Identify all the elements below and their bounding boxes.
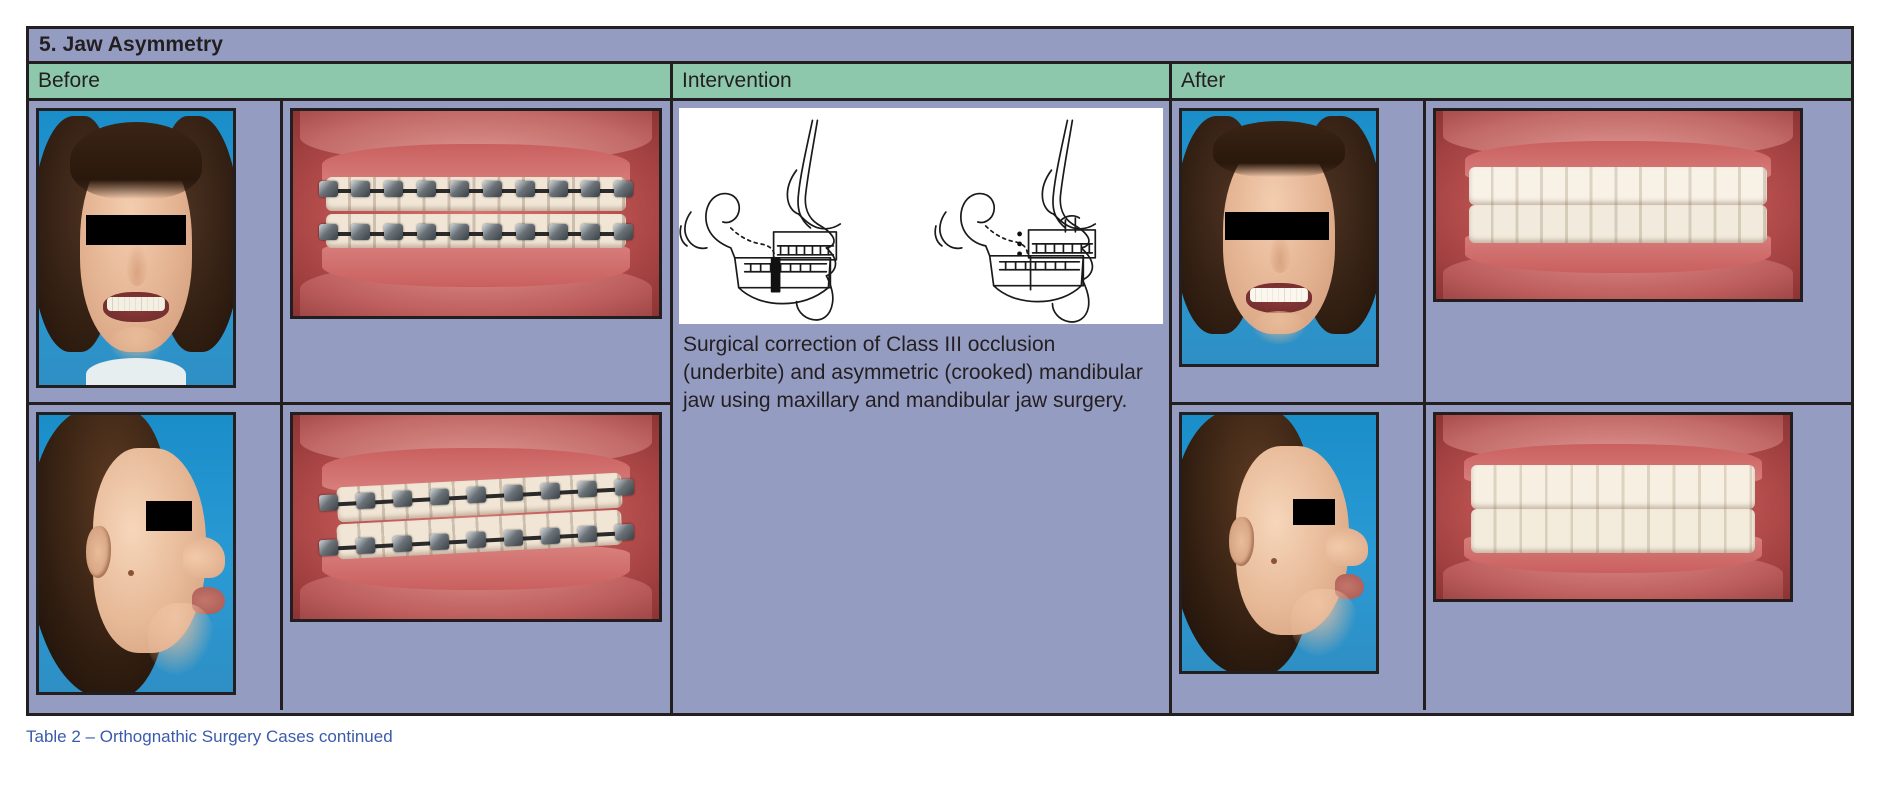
before-frontal-eye-redaction-bar <box>86 215 187 245</box>
after-top-photo-row <box>1172 101 1851 405</box>
before-intraoral-frontal-photo <box>290 108 662 319</box>
orthognathic-case-table: 5. Jaw Asymmetry Before Intervention Aft… <box>26 26 1854 716</box>
column-after <box>1172 101 1851 713</box>
before-profile-photo <box>36 412 236 695</box>
before-upper-braces <box>319 181 634 198</box>
column-before <box>29 101 673 713</box>
before-profile-cell <box>29 405 283 710</box>
column-header-intervention-label: Intervention <box>682 69 792 93</box>
column-header-intervention: Intervention <box>673 64 1172 98</box>
column-header-row: Before Intervention After <box>29 64 1851 101</box>
after-intraoral-lateral-photo <box>1433 412 1793 602</box>
before-top-photo-row <box>29 101 670 405</box>
before-bottom-photo-row <box>29 405 670 710</box>
after-profile-photo <box>1179 412 1379 674</box>
after-intraoral-frontal-photo <box>1433 108 1803 302</box>
after-profile-eye-redaction-bar <box>1293 499 1336 525</box>
after-intraoral-lateral-cell <box>1426 405 1851 710</box>
column-header-before-label: Before <box>38 69 100 93</box>
tracing-post-surgical <box>935 120 1095 322</box>
column-header-after: After <box>1172 64 1851 98</box>
before-intraoral-lateral-cell <box>283 405 670 710</box>
column-header-before: Before <box>29 64 673 98</box>
tracing-pre-surgical <box>680 120 840 320</box>
intervention-description: Surgical correction of Class III occlusi… <box>679 331 1163 415</box>
after-frontal-eye-redaction-bar <box>1225 212 1330 240</box>
after-intraoral-frontal-cell <box>1426 101 1851 402</box>
before-intraoral-lateral-photo <box>290 412 662 622</box>
after-frontal-smile-photo <box>1179 108 1379 367</box>
table-caption: Table 2 – Orthognathic Surgery Cases con… <box>26 727 393 747</box>
column-intervention: Surgical correction of Class III occlusi… <box>673 101 1172 713</box>
before-profile-eye-redaction-bar <box>146 501 193 531</box>
before-lower-braces <box>319 224 634 241</box>
case-title: 5. Jaw Asymmetry <box>39 33 223 57</box>
case-title-row: 5. Jaw Asymmetry <box>29 29 1851 64</box>
before-frontal-cell <box>29 101 283 402</box>
before-frontal-smile-photo <box>36 108 236 388</box>
page-root: 5. Jaw Asymmetry Before Intervention Aft… <box>0 0 1878 800</box>
column-header-after-label: After <box>1181 69 1225 93</box>
before-intraoral-frontal-cell <box>283 101 670 402</box>
case-body-row: Surgical correction of Class III occlusi… <box>29 101 1851 713</box>
after-profile-cell <box>1172 405 1426 710</box>
after-bottom-photo-row <box>1172 405 1851 710</box>
cephalometric-tracing-diagram <box>679 108 1163 324</box>
after-frontal-cell <box>1172 101 1426 402</box>
